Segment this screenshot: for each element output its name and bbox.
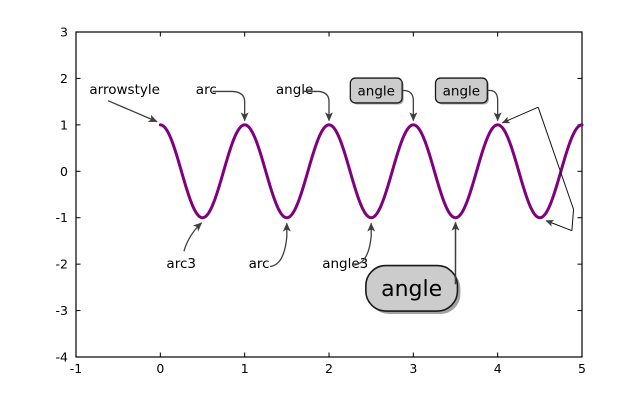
plot-frame xyxy=(76,32,582,357)
x-tick-label: 0 xyxy=(156,361,164,376)
matplotlib-figure: -10123453210-1-2-3-4arrowstylearc3arcarc… xyxy=(0,0,640,400)
y-tick-label: -4 xyxy=(56,350,69,365)
cos-curve xyxy=(160,125,582,218)
x-tick-label: 5 xyxy=(578,361,586,376)
annotation-label-angle3: angle3 xyxy=(322,256,368,272)
x-tick-label: 3 xyxy=(409,361,417,376)
y-tick-label: 0 xyxy=(60,164,68,179)
annotation-boxed-label-1: angle xyxy=(350,78,403,104)
annotation-arrow-arrowstyle xyxy=(108,101,157,122)
bar-connector-head-top xyxy=(502,107,538,123)
y-tick-label: -1 xyxy=(56,210,68,225)
annotation-label-arc3: arc3 xyxy=(166,256,196,272)
x-tick-label: 4 xyxy=(494,361,502,376)
bar-connector-bar xyxy=(572,209,574,230)
annotation-label-angle-upper: angle xyxy=(276,82,313,98)
annotation-arrow-arc3 xyxy=(184,223,202,251)
annotation-label-arrowstyle: arrowstyle xyxy=(89,82,160,98)
annotation-box-label: angle xyxy=(443,83,480,99)
annotation-big-box-group: angle xyxy=(366,266,461,315)
annotation-arrow-arc-upper xyxy=(213,91,245,120)
annotation-label-arc-lower: arc xyxy=(249,256,270,272)
y-tick-label: -3 xyxy=(56,303,68,318)
x-tick-label: 1 xyxy=(241,361,249,376)
axis-ticks: -10123453210-1-2-3-4 xyxy=(56,25,586,377)
y-tick-label: 3 xyxy=(60,25,68,40)
y-tick-label: 2 xyxy=(60,71,68,86)
bar-connector-spine-a xyxy=(538,107,573,209)
annotation-big-box-label: angle xyxy=(381,277,442,302)
annotation-demo-plot: -10123453210-1-2-3-4arrowstylearc3arcarc… xyxy=(0,0,640,400)
annotation-arrow-boxed-1 xyxy=(402,91,413,121)
annotation-box-label: angle xyxy=(357,83,394,99)
annotation-boxed-label-2: angle xyxy=(436,78,489,104)
bar-connector-head-bottom xyxy=(546,221,572,231)
y-tick-label: 1 xyxy=(60,117,68,132)
x-tick-label: 2 xyxy=(325,361,333,376)
x-tick-label: -1 xyxy=(70,361,82,376)
annotation-label-arc-upper: arc xyxy=(196,82,217,98)
annotation-arrow-arc-lower xyxy=(270,223,287,266)
y-tick-label: -2 xyxy=(56,257,68,272)
